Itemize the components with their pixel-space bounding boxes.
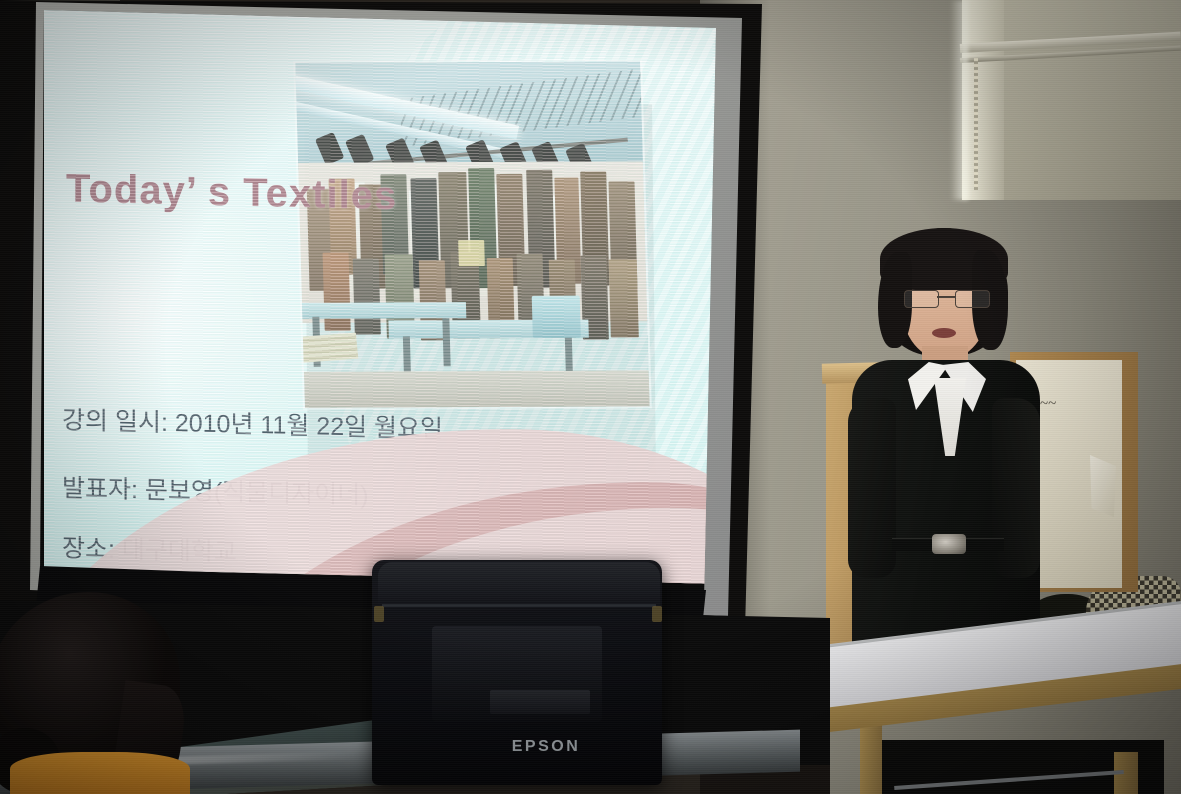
wall-light-strip [950, 0, 968, 200]
bag-logo-plate [490, 690, 590, 714]
slide-title: Today’ s Textiles [66, 167, 397, 220]
glasses-icon [904, 290, 988, 306]
presenter-arm-left [848, 398, 896, 578]
presenter-mouth [932, 328, 956, 338]
desk-leg [860, 722, 882, 794]
textile-showroom-photo [295, 61, 649, 408]
blind-light-glow [962, 0, 1004, 200]
presentation-slide: Today’ s Textiles 강의 일시: 2010년 11월 22일 월… [44, 8, 718, 584]
audience-orange-top [10, 752, 190, 794]
epson-brand-label: EPSON [486, 738, 606, 756]
projection-screen: Today’ s Textiles 강의 일시: 2010년 11월 22일 월… [0, 0, 780, 640]
bag-zipper [382, 604, 656, 607]
belt-buckle [932, 534, 966, 554]
presenter [836, 228, 1048, 660]
bag-flap [378, 562, 660, 608]
lecture-room-scene: 커l~~ [0, 0, 1181, 794]
bag-clip [652, 606, 662, 622]
presenter-arm-right [992, 398, 1040, 578]
bag-clip [374, 606, 384, 622]
wooden-desk [824, 648, 1181, 794]
blind-pull-chain[interactable] [974, 58, 978, 190]
